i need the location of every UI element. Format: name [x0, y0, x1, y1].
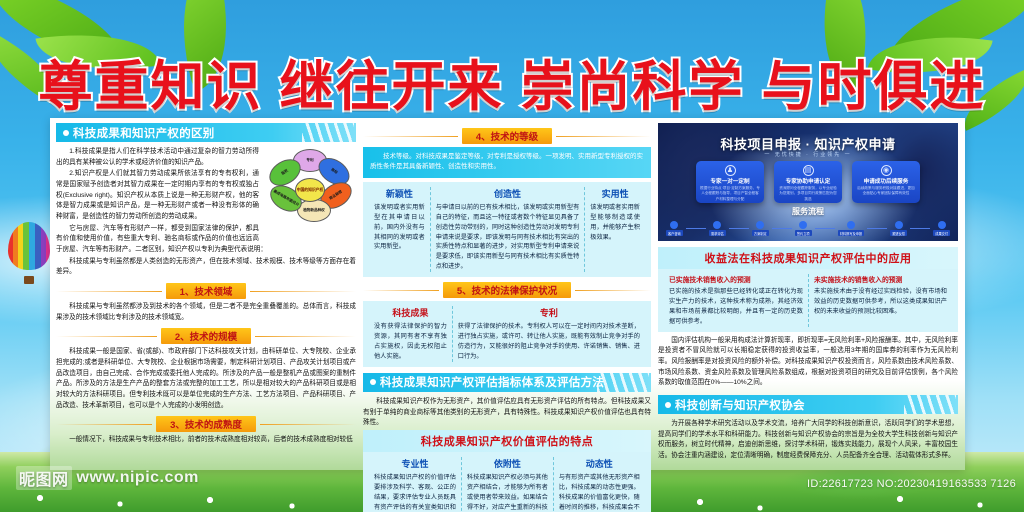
section5-header: 5、技术的法律保护状况	[363, 282, 651, 298]
column-title: 新颖性	[374, 187, 425, 200]
section5-col-patent: 专利 获得了法律保护的技术。专利权人可以在一定时间内对技术垄断，进行独占实施，或…	[452, 306, 645, 362]
right-column: 科技项目申报 · 知识产权申请 一 无忧快捷 · 行业领先 一 ♟ 专家一对一定…	[658, 123, 958, 466]
step-label: 跟进反馈	[890, 230, 907, 236]
section4-col-inventiveness: 创造性 与申请日以前的已有技术相比，该发明或实用新型有自己的特征，而且这一特征或…	[430, 187, 585, 272]
arrow-connector-icon	[686, 228, 706, 229]
step-label: 方案制定	[752, 230, 769, 236]
rule-line	[250, 291, 356, 292]
income-col-unimplemented: 未实施技术的销售收入的预测 未实施技术由于没有经过实践检验，没有市场和效益的历史…	[808, 274, 952, 327]
rule-line	[556, 136, 651, 137]
subsection-label: 1、技术领域	[166, 283, 247, 299]
left-paragraph: 科技成果与专利虽然都涉及到技术的各个领域，但是二者不是完全重叠覆盖的。总体而言，…	[56, 302, 356, 323]
column-title: 创造性	[436, 187, 580, 200]
card-desc: 根据行业特点·项目·定制方案服务，专人全程跟踪与指导，项目产智全程客户材料整理与…	[700, 186, 760, 202]
step-label: 材料撰写及申报	[838, 230, 864, 236]
step-label: 客户咨询	[666, 230, 683, 236]
step-dot-icon	[799, 221, 807, 229]
rule-line	[575, 290, 651, 291]
column-body: 未实施技术由于没有经过实践检验，没有市场和效益的历史数据可供参考，所以这类成果知…	[814, 287, 947, 317]
left-subsection-header-3: 3、技术的成熟度	[56, 416, 356, 432]
left-paragraph: 一般情况下，科技成果与专利技术相比，前者的技术成熟度相对较高，后者的技术成熟度相…	[56, 435, 356, 446]
slash-stripes-icon	[597, 373, 649, 392]
flower-center-label: 中国的知识产权	[295, 178, 325, 202]
middle-column: 4、技术的等级 技术等级。对科技成果是鉴定等级，对专利是授权等级。一项发明、实用…	[363, 123, 651, 466]
bullet-icon	[370, 379, 376, 385]
section5-col-achievement: 科技成果 没有获得法律保护的智力资源，其同有者不享有独占实施权，因此无权阻止他人…	[369, 306, 452, 362]
eval-header-label: 科技成果知识产权评估指标体系及评估方法	[380, 374, 604, 390]
column-title: 专业性	[374, 457, 456, 470]
subsection-label: 5、技术的法律保护状况	[443, 282, 571, 298]
card-desc: 资深顾问全程跟踪服务，以专业经验为您规划，多项目同行政策匹配为您挑选	[778, 186, 838, 202]
income-body: 国内评估机构一般采用构成法计算折现率，即折现率=无风险利率+风险报酬率。其中，无…	[658, 336, 958, 389]
rule-line	[56, 291, 162, 292]
subsection-label: 2、技术的规模	[161, 328, 251, 344]
arrow-connector-icon	[867, 228, 887, 229]
column-title: 依附性	[467, 457, 548, 470]
content-panel: 科技成果和知识产权的区别 专利 商标 商业秘密 植物新品种权 集成电路布图设计 …	[50, 118, 965, 470]
eval-section-header: 科技成果知识产权评估指标体系及评估方法	[363, 373, 651, 392]
step-label: 成果交付	[933, 230, 950, 236]
hero-step: 方案制定	[752, 221, 769, 236]
step-dot-icon	[756, 221, 764, 229]
certificate-icon: ▤	[803, 165, 814, 176]
poster-title: 尊重知识 继往开来 崇尚科学 与时俱进	[0, 42, 1024, 121]
section5-columns: 科技成果 没有获得法律保护的智力资源，其同有者不享有独占实施权，因此无权阻止他人…	[369, 306, 645, 362]
hero-card-post-service[interactable]: ◉ 申请成功后续服务 后续政策与服务积极对接跟进，更加全面贴心专家团队保障有效性	[852, 161, 920, 203]
image-id-tag: ID:22617723 NO:20230419163533 7126	[807, 478, 1016, 490]
section4-col-utility: 实用性 该发明或者实用新型能够制造或使用，并能够产生积极效果。	[584, 187, 645, 272]
hero-flow-label: 服务流程	[658, 206, 958, 217]
hero-step: 需求评估	[709, 221, 726, 236]
column-body: 与有形资产或其他无形资产相比，科技成果的动态性更强。科技成果的价值富化更快，随着…	[559, 473, 640, 512]
income-col-implemented: 已实施技术销售收入的预测 已实施的技术是指那些已经转化或正在转化为现实生产力的技…	[664, 274, 808, 327]
section5-box: 科技成果 没有获得法律保护的智力资源，其同有者不享有独占实施权，因此无权阻止他人…	[363, 301, 651, 367]
step-dot-icon	[895, 221, 903, 229]
hero-card-application-assist[interactable]: ▤ 专家协助申请认定 资深顾问全程跟踪服务，以专业经验为您规划，多项目同行政策匹…	[774, 161, 842, 203]
left-paragraph: 科技成果与专利虽然都是人类创造的无形资产，但在技术领域、技术规模、技术等级等方面…	[56, 257, 356, 278]
section4-columns: 新颖性 该发明或者实用新型在其申请日以前，国内外没有与其相同的发明或者实用新型。…	[369, 187, 645, 272]
hero-step: 成果交付	[933, 221, 950, 236]
balloon-envelope	[8, 222, 50, 270]
subsection-label: 3、技术的成熟度	[156, 416, 256, 432]
eval-intro: 科技成果知识产权作为无形资产，其价值评估应具有无形资产评估的所有特点。但科技成果…	[363, 397, 651, 429]
step-dot-icon	[670, 221, 678, 229]
column-body: 没有获得法律保护的智力资源，其同有者不享有独占实施权，因此无权阻止他人实施。	[374, 322, 447, 362]
column-body: 与申请日以前的已有技术相比，该发明或实用新型有自己的特征，而且这一特征或者数个特…	[436, 203, 580, 272]
income-box: 已实施技术销售收入的预测 已实施的技术是指那些已经转化或正在转化为现实生产力的技…	[658, 269, 958, 332]
bullet-icon	[63, 130, 69, 136]
hero-banner-image: 科技项目申报 · 知识产权申请 一 无忧快捷 · 行业领先 一 ♟ 专家一对一定…	[658, 123, 958, 241]
eval-col-professional: 专业性 科技成果知识产权的价值评估要排涉及科学、客观、公正的结果，要求评估专业人…	[369, 457, 461, 512]
hero-step: 材料撰写及申报	[838, 221, 864, 236]
rule-line	[255, 336, 356, 337]
card-title: 专家一对一定制	[700, 177, 760, 185]
section4-intro-band: 技术等级。对科技成果是鉴定等级，对专利是授权等级。一项发明、实用新型专利授权的实…	[363, 147, 651, 178]
hero-cards: ♟ 专家一对一定制 根据行业特点·项目·定制方案服务，专人全程跟踪与指导，项目产…	[658, 161, 958, 203]
ip-flower-diagram: 专利 商标 商业秘密 植物新品种权 集成电路布图设计 版权 中国的知识产权	[264, 147, 356, 233]
eval-col-dependency: 依附性 科技成果知识产权必须与其他资产相结合，才能够为所有者或使用者带来效益。如…	[461, 457, 553, 512]
rule-line	[363, 136, 458, 137]
hero-card-expert-custom[interactable]: ♟ 专家一对一定制 根据行业特点·项目·定制方案服务，专人全程跟踪与指导，项目产…	[696, 161, 764, 203]
watermark-brand: 昵图网	[16, 466, 72, 490]
column-title: 已实施技术销售收入的预测	[669, 274, 803, 284]
rule-line	[363, 290, 439, 291]
column-body: 获得了法律保护的技术。专利权人可以在一定时间内对技术垄断，进行独占实施，或许可、…	[458, 322, 640, 362]
hero-steps: 客户咨询 需求评估 方案制定 签约立项	[666, 221, 950, 236]
column-title: 实用性	[590, 187, 640, 200]
association-header: 科技创新与知识产权协会	[658, 395, 958, 414]
column-title: 未实施技术的销售收入的预测	[814, 274, 947, 284]
section4-col-novelty: 新颖性 该发明或者实用新型在其申请日以前，国内外没有与其相同的发明或者实用新型。	[369, 187, 430, 272]
section4-box: 新颖性 该发明或者实用新型在其申请日以前，国内外没有与其相同的发明或者实用新型。…	[363, 182, 651, 277]
section4-header: 4、技术的等级	[363, 128, 651, 144]
left-header-label: 科技成果和知识产权的区别	[73, 125, 215, 141]
rule-line	[56, 424, 152, 425]
hero-step: 跟进反馈	[890, 221, 907, 236]
bullet-icon	[665, 402, 671, 408]
eval-subtitle: 科技成果知识产权价值评估的特点	[363, 430, 651, 452]
target-icon: ◉	[881, 165, 892, 176]
column-body: 该发明或者实用新型能够制造或使用，并能够产生积极效果。	[590, 203, 640, 243]
column-body: 已实施的技术是指那些已经转化或正在转化为现实生产力的技术，这种技术称为成熟，其经…	[669, 287, 803, 327]
step-dot-icon	[938, 221, 946, 229]
arrow-connector-icon	[910, 228, 930, 229]
step-label: 签约立项	[795, 230, 812, 236]
association-header-label: 科技创新与知识产权协会	[675, 397, 805, 413]
arrow-connector-icon	[815, 228, 835, 229]
user-icon: ♟	[725, 165, 736, 176]
watermark-url: www.nipic.com	[77, 469, 199, 487]
arrow-connector-icon	[772, 228, 792, 229]
rule-line	[56, 336, 157, 337]
column-title: 专利	[458, 306, 640, 319]
column-title: 科技成果	[374, 306, 447, 319]
hero-step: 签约立项	[795, 221, 812, 236]
association-body: 为开展各种学术研究活动以及学术交流，培养广大同学的科技创新意识，活跃同学们的学术…	[658, 419, 958, 462]
arrow-connector-icon	[729, 228, 749, 229]
hero-subtitle: 一 无忧快捷 · 行业领先 一	[658, 151, 958, 158]
balloon-basket	[24, 276, 34, 284]
eval-col-dynamic: 动态性 与有形资产或其他无形资产相比，科技成果的动态性更强。科技成果的价值富化更…	[553, 457, 645, 512]
eval-box: 专业性 科技成果知识产权的价值评估要排涉及科学、客观、公正的结果，要求评估专业人…	[363, 452, 651, 512]
column-body: 科技成果知识产权必须与其他资产相结合，才能够为所有者或使用者带来效益。如果结合得…	[467, 473, 548, 512]
rule-line	[260, 424, 356, 425]
slash-stripes-icon	[904, 395, 956, 414]
step-dot-icon	[713, 221, 721, 229]
subsection-label: 4、技术的等级	[462, 128, 552, 144]
card-title: 申请成功后续服务	[856, 177, 916, 185]
hot-air-balloon-icon	[8, 222, 50, 282]
slash-stripes-icon	[302, 123, 354, 142]
left-column: 科技成果和知识产权的区别 专利 商标 商业秘密 植物新品种权 集成电路布图设计 …	[56, 123, 356, 466]
left-subsection-header-1: 1、技术领域	[56, 283, 356, 299]
income-columns: 已实施技术销售收入的预测 已实施的技术是指那些已经转化或正在转化为现实生产力的技…	[664, 274, 952, 327]
card-title: 专家协助申请认定	[778, 177, 838, 185]
column-body: 科技成果知识产权的价值评估要排涉及科学、客观、公正的结果，要求评估专业人员既具有…	[374, 473, 456, 512]
hero-step: 客户咨询	[666, 221, 683, 236]
card-desc: 后续政策与服务积极对接跟进，更加全面贴心专家团队保障有效性	[856, 186, 916, 197]
left-subsection-header-2: 2、技术的规模	[56, 328, 356, 344]
left-column-header: 科技成果和知识产权的区别	[56, 123, 356, 142]
step-dot-icon	[847, 221, 855, 229]
watermark: 昵图网 www.nipic.com	[16, 466, 199, 490]
left-paragraph: 科技成果一般是国家、省(或部)、市政府部门下达科技攻关计划，由科研单位、大专院校…	[56, 347, 356, 411]
income-section-header: 收益法在科技成果知识产权评估中的应用	[658, 247, 958, 269]
eval-columns: 专业性 科技成果知识产权的价值评估要排涉及科学、客观、公正的结果，要求评估专业人…	[369, 457, 645, 512]
step-label: 需求评估	[709, 230, 726, 236]
column-body: 该发明或者实用新型在其申请日以前，国内外没有与其相同的发明或者实用新型。	[374, 203, 425, 253]
column-title: 动态性	[559, 457, 640, 470]
